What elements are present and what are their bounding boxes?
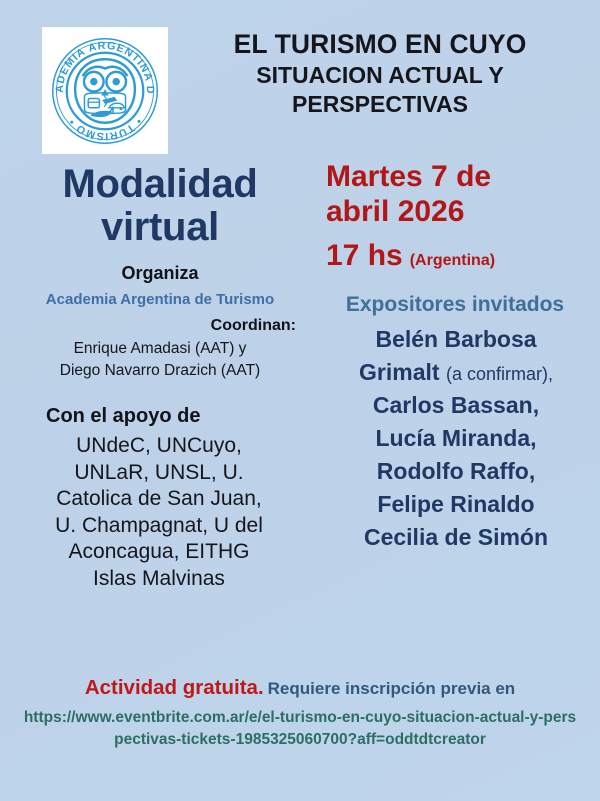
support-line: U. Champagnat, U del	[8, 513, 310, 539]
left-column: Modalidad virtual Organiza Academia Arge…	[8, 163, 318, 592]
organizer-name: Academia Argentina de Turismo	[8, 291, 318, 308]
speaker-item: Carlos Bassan,	[318, 389, 594, 422]
support-line: Islas Malvinas	[8, 566, 310, 592]
event-date-line-2: abril 2026	[326, 195, 596, 230]
academia-argentina-del-turismo-logo-icon: ACADEMIA ARGENTINA DEL • TURISMO •	[49, 35, 161, 147]
event-poster: ACADEMIA ARGENTINA DEL • TURISMO •	[0, 0, 600, 801]
free-activity-text: Actividad gratuita.	[85, 676, 264, 699]
coordinator-item: Diego Navarro Drazich (AAT)	[8, 360, 312, 382]
coordinator-item: Enrique Amadasi (AAT) y	[8, 338, 312, 360]
support-line: Aconcagua, EITHG	[8, 539, 310, 565]
speaker-name: Grimalt	[359, 359, 440, 385]
title-line-1: EL TURISMO EN CUYO	[180, 30, 580, 60]
coordinators-label: Coordinan:	[8, 317, 318, 335]
speaker-item: Felipe Rinaldo	[318, 488, 594, 521]
registration-note: Actividad gratuita.Requiere inscripción …	[0, 675, 600, 701]
event-timezone: (Argentina)	[410, 252, 495, 270]
speaker-item: Belén Barbosa	[318, 323, 594, 356]
logo-container: ACADEMIA ARGENTINA DEL • TURISMO •	[42, 27, 168, 154]
speaker-item: Lucía Miranda,	[318, 422, 594, 455]
support-line: UNdeC, UNCuyo,	[8, 433, 310, 459]
registration-required-text: Requiere inscripción previa en	[268, 679, 516, 698]
speaker-name: Belén Barbosa	[375, 326, 536, 352]
speaker-name: Cecilia de Simón	[364, 524, 548, 550]
organizer-label: Organiza	[8, 263, 318, 284]
right-column: Martes 7 de abril 2026 17 hs (Argentina)…	[318, 160, 596, 554]
modality-text: Modalidad virtual	[8, 163, 318, 249]
speaker-name: Rodolfo Raffo,	[377, 458, 535, 484]
speaker-name: Carlos Bassan,	[373, 392, 539, 418]
event-date: Martes 7 de abril 2026	[318, 160, 596, 230]
speakers-list: Belén Barbosa Grimalt (a confirmar), Car…	[318, 323, 596, 555]
title-line-2: SITUACION ACTUAL Y	[180, 62, 580, 89]
title-line-3: PERSPECTIVAS	[180, 91, 580, 118]
event-time: 17 hs	[326, 241, 403, 271]
support-line: UNLaR, UNSL, U.	[8, 460, 310, 486]
speakers-label: Expositores invitados	[318, 293, 596, 317]
coordinators-list: Enrique Amadasi (AAT) y Diego Navarro Dr…	[8, 338, 318, 382]
event-time-row: 17 hs (Argentina)	[318, 241, 596, 271]
support-line: Catolica de San Juan,	[8, 486, 310, 512]
registration-url[interactable]: https://www.eventbrite.com.ar/e/el-turis…	[0, 707, 600, 751]
support-list: UNdeC, UNCuyo, UNLaR, UNSL, U. Catolica …	[8, 433, 318, 592]
speaker-item: Cecilia de Simón	[318, 521, 594, 554]
support-label: Con el apoyo de	[8, 405, 318, 428]
event-date-line-1: Martes 7 de	[326, 160, 596, 195]
speaker-item: Rodolfo Raffo,	[318, 455, 594, 488]
poster-header: ACADEMIA ARGENTINA DEL • TURISMO •	[0, 0, 600, 160]
speaker-name: Felipe Rinaldo	[377, 491, 534, 517]
speaker-name: Lucía Miranda,	[375, 425, 536, 451]
poster-footer: Actividad gratuita.Requiere inscripción …	[0, 675, 600, 751]
poster-title: EL TURISMO EN CUYO SITUACION ACTUAL Y PE…	[180, 30, 580, 118]
speaker-item: Grimalt (a confirmar),	[318, 356, 594, 389]
speaker-note: (a confirmar),	[446, 364, 553, 384]
